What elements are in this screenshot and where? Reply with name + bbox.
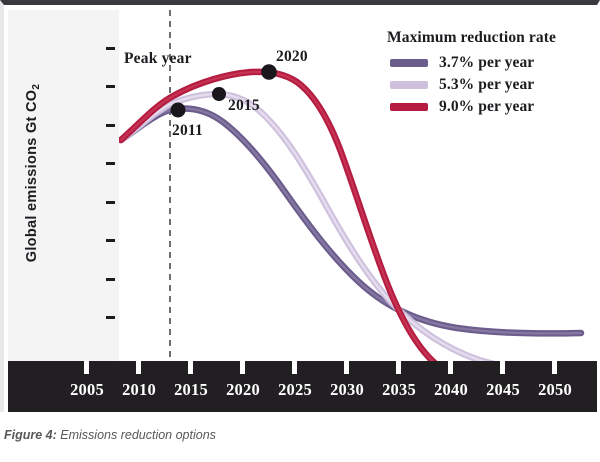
x-tick-mark-2005 (84, 361, 89, 374)
x-tick-label-2040: 2040 (421, 380, 481, 400)
x-tick-label-2020: 2020 (213, 380, 273, 400)
x-tick-label-2015: 2015 (161, 380, 221, 400)
x-tick-mark-2015 (188, 361, 193, 374)
legend-item-5-3-percent[interactable]: 5.3% per year (387, 74, 592, 96)
x-tick-label-2035: 2035 (369, 380, 429, 400)
x-tick-mark-2045 (500, 361, 505, 374)
annotation-peak-year: Peak year (124, 50, 192, 68)
peak-marker-2015 (212, 87, 226, 101)
y-axis-title-subscript: 2 (31, 84, 42, 90)
legend-item-3-7-percent[interactable]: 3.7% per year (387, 52, 592, 74)
x-tick-label-2005: 2005 (57, 380, 117, 400)
x-tick-mark-2030 (344, 361, 349, 374)
figure-caption: Figure 4: Emissions reduction options (4, 428, 216, 442)
peak-marker-2020 (261, 64, 277, 80)
y-tick-mark-5 (106, 316, 115, 319)
x-tick-mark-2025 (292, 361, 297, 374)
y-tick-mark-30 (106, 124, 115, 127)
annotation-2015: 2015 (228, 97, 260, 115)
x-tick-label-2045: 2045 (473, 380, 533, 400)
legend-item-9-0-percent[interactable]: 9.0% per year (387, 96, 592, 118)
y-tick-mark-25 (106, 162, 115, 165)
x-tick-mark-2010 (136, 361, 141, 374)
legend-swatch-5-3-percent (390, 81, 428, 89)
legend-label-3-7-percent: 3.7% per year (439, 54, 534, 72)
y-tick-mark-40 (106, 47, 115, 50)
plot-area: Peak year 2011 2015 2020 Maximum reducti… (119, 10, 600, 361)
annotation-2011: 2011 (172, 122, 203, 140)
legend: Maximum reduction rate 3.7% per year 5.3… (387, 29, 592, 118)
x-tick-mark-2035 (396, 361, 401, 374)
caption-label: Figure 4: (4, 428, 57, 442)
y-axis-title: Global emissions Gt CO2 (24, 63, 40, 283)
y-tick-mark-10 (106, 278, 115, 281)
series-highlight-3-7-percent (121, 109, 581, 334)
y-tick-mark-15 (106, 239, 115, 242)
y-tick-mark-20 (106, 201, 115, 204)
peak-marker-2011 (171, 103, 186, 118)
y-axis-title-text: Global emissions Gt CO (24, 90, 40, 263)
caption-text: Emissions reduction options (57, 428, 216, 442)
legend-swatch-9-0-percent (390, 103, 428, 111)
x-tick-label-2050: 2050 (525, 380, 585, 400)
x-tick-mark-2040 (448, 361, 453, 374)
figure-container: Global emissions Gt CO2 40 35 30 25 20 1… (0, 0, 600, 462)
y-tick-mark-35 (106, 85, 115, 88)
series-line-3-7-percent (121, 109, 581, 334)
annotation-2020: 2020 (276, 48, 308, 66)
legend-label-9-0-percent: 9.0% per year (439, 98, 534, 116)
chart-frame: Global emissions Gt CO2 40 35 30 25 20 1… (0, 0, 600, 412)
x-tick-label-2010: 2010 (109, 380, 169, 400)
x-axis: 2005 2010 2015 2020 2025 2030 2035 2040 … (8, 361, 600, 412)
legend-title: Maximum reduction rate (387, 29, 592, 47)
x-tick-mark-2050 (552, 361, 557, 374)
x-tick-label-2025: 2025 (265, 380, 325, 400)
x-tick-mark-2020 (240, 361, 245, 374)
x-tick-label-2030: 2030 (317, 380, 377, 400)
legend-swatch-3-7-percent (390, 59, 428, 67)
legend-label-5-3-percent: 5.3% per year (439, 76, 534, 94)
